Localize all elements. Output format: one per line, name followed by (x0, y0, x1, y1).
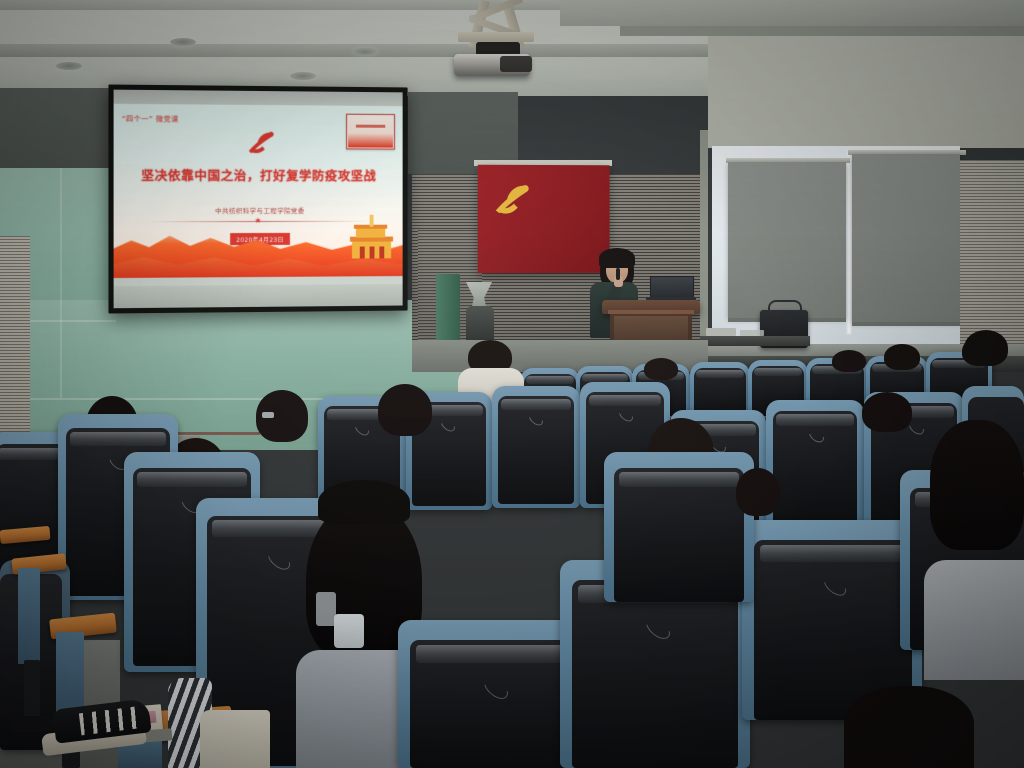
seat-top-bar (501, 399, 571, 410)
window-roller-blind[interactable] (728, 162, 846, 318)
seat-top-bar (70, 432, 166, 446)
seat-top-bar (137, 472, 247, 487)
projector-mount-plate (458, 32, 534, 42)
seat-top-bar (776, 414, 854, 426)
ceiling-edge (620, 26, 1024, 36)
eyeglasses-icon (262, 412, 274, 418)
seat-leg (24, 660, 40, 724)
screen-top-band (114, 90, 403, 108)
downlight-icon (56, 62, 82, 70)
presentation-slide: “四个一” 微党课 坚决依靠中国之治，打好复学防疫 (114, 104, 403, 278)
seated-student (862, 392, 912, 432)
seat-top-bar (589, 395, 661, 406)
seat-top-bar (582, 374, 628, 382)
seat-top-bar (754, 368, 802, 376)
screen-bottom-band (114, 284, 403, 308)
screen-surface: “四个一” 微党课 坚决依靠中国之治，打好复学防疫 (114, 90, 403, 309)
av-control-equipment (706, 328, 736, 336)
window-header-wall (708, 36, 1024, 148)
seated-student (964, 330, 1008, 366)
seat-back (572, 580, 738, 768)
surgical-face-mask (334, 614, 364, 648)
seat-top-bar (416, 645, 570, 663)
seated-student (844, 686, 974, 768)
seated-student-hair-top (318, 480, 410, 524)
slide-thumbnail-poster (346, 114, 395, 150)
hammer-and-sickle-emblem (243, 127, 277, 159)
seated-student (736, 468, 780, 516)
presenter-hair-top (599, 248, 635, 268)
seat-top-bar (760, 545, 906, 562)
seat-foot (12, 716, 54, 732)
projector-lens (500, 56, 532, 72)
seated-student (644, 358, 678, 380)
slide-graphic-gate (346, 215, 397, 265)
cpc-party-flag (478, 165, 610, 274)
flag-hammer-sickle-icon (491, 181, 533, 219)
projection-screen: “四个一” 微党课 坚决依靠中国之治，打好复学防疫 (108, 85, 407, 314)
downlight-icon (290, 72, 316, 80)
eyeglasses-icon (316, 592, 336, 626)
seated-student (930, 420, 1024, 550)
seated-student-torso (924, 560, 1024, 680)
acoustic-panel-left (0, 236, 30, 432)
podium-lip (608, 310, 694, 314)
blind-bottom-bar[interactable] (852, 322, 960, 326)
seated-student-lap (200, 710, 270, 768)
microphone[interactable] (616, 268, 620, 280)
slide-kicker-text: “四个一” 微党课 (122, 114, 179, 124)
seated-student (378, 384, 432, 436)
seated-student (884, 344, 920, 370)
seat-top-bar (619, 472, 739, 487)
seat-top-bar (526, 376, 574, 384)
upper-wall-band-left (0, 88, 112, 174)
seat-back (614, 468, 744, 602)
seat-top-bar (696, 370, 744, 378)
slide-date: 2020年4月23日 (230, 233, 290, 245)
av-table (700, 336, 810, 346)
armrest-post (18, 568, 40, 664)
window-roller-blind[interactable] (852, 154, 960, 322)
slide-title: 坚决依靠中国之治，打好复学防疫攻坚战 (114, 165, 403, 185)
lecture-hall-photo: “四个一” 微党课 坚决依靠中国之治，打好复学防疫 (0, 0, 1024, 768)
downlight-icon (170, 38, 196, 46)
av-control-equipment (740, 330, 764, 336)
wall-seam-v (60, 168, 62, 398)
downlight-icon (352, 48, 378, 56)
seated-student (832, 350, 866, 372)
ceiling-soffit (560, 0, 1024, 26)
